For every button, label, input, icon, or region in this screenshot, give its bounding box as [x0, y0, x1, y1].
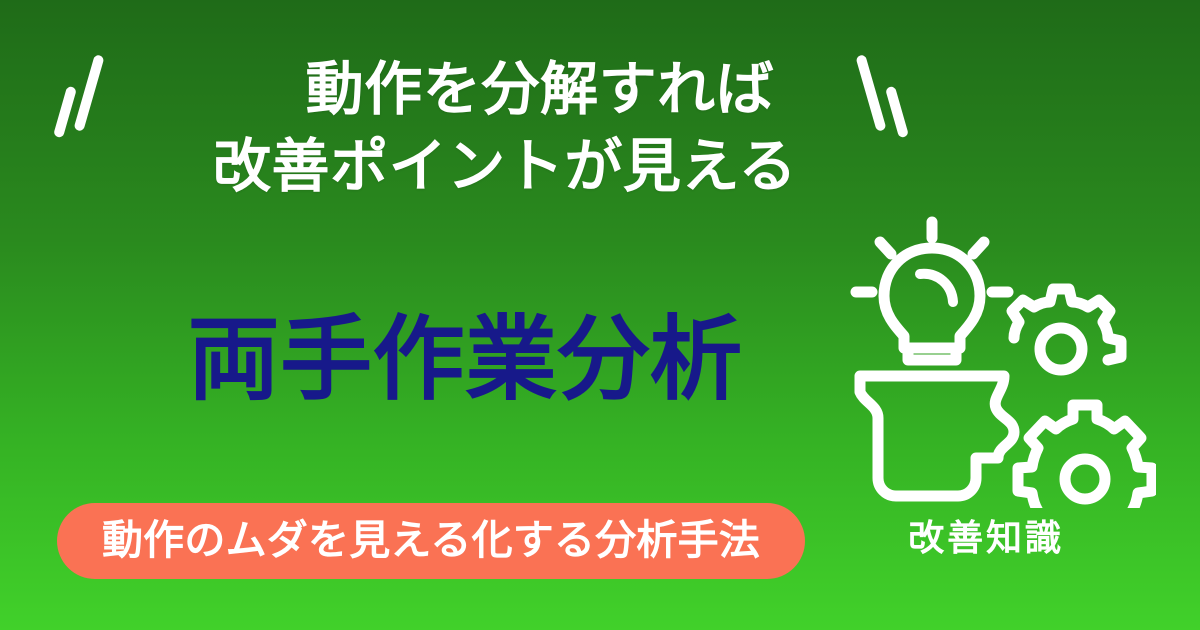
headline: 動作を分解すれば 改善ポイントが見える [0, 52, 1010, 205]
status-badge: 動作のムダを見える化する分析手法 [57, 503, 805, 579]
head-silhouette-icon [860, 376, 1014, 496]
gear-small-hub-icon [1065, 459, 1105, 499]
page-title: 両手作業分析 [0, 312, 930, 409]
thumbnail-canvas: 動作を分解すれば 改善ポイントが見える 両手作業分析 動作のムダを見える化する分… [0, 0, 1200, 630]
bulb-ray-icon [880, 242, 891, 254]
gear-large-hub-icon [1040, 328, 1082, 370]
headline-line-2: 改善ポイントが見える [0, 129, 1010, 206]
head-lightbulb-gears-icon [836, 208, 1156, 508]
bulb-ray-icon [973, 242, 984, 254]
bulb-highlight-icon [920, 274, 953, 302]
status-badge-label: 動作のムダを見える化する分析手法 [102, 520, 760, 561]
bulb-glass-icon [884, 248, 980, 348]
headline-line-1: 動作を分解すれば [0, 52, 1010, 129]
illustration-caption: 改善知識 [836, 518, 1136, 558]
